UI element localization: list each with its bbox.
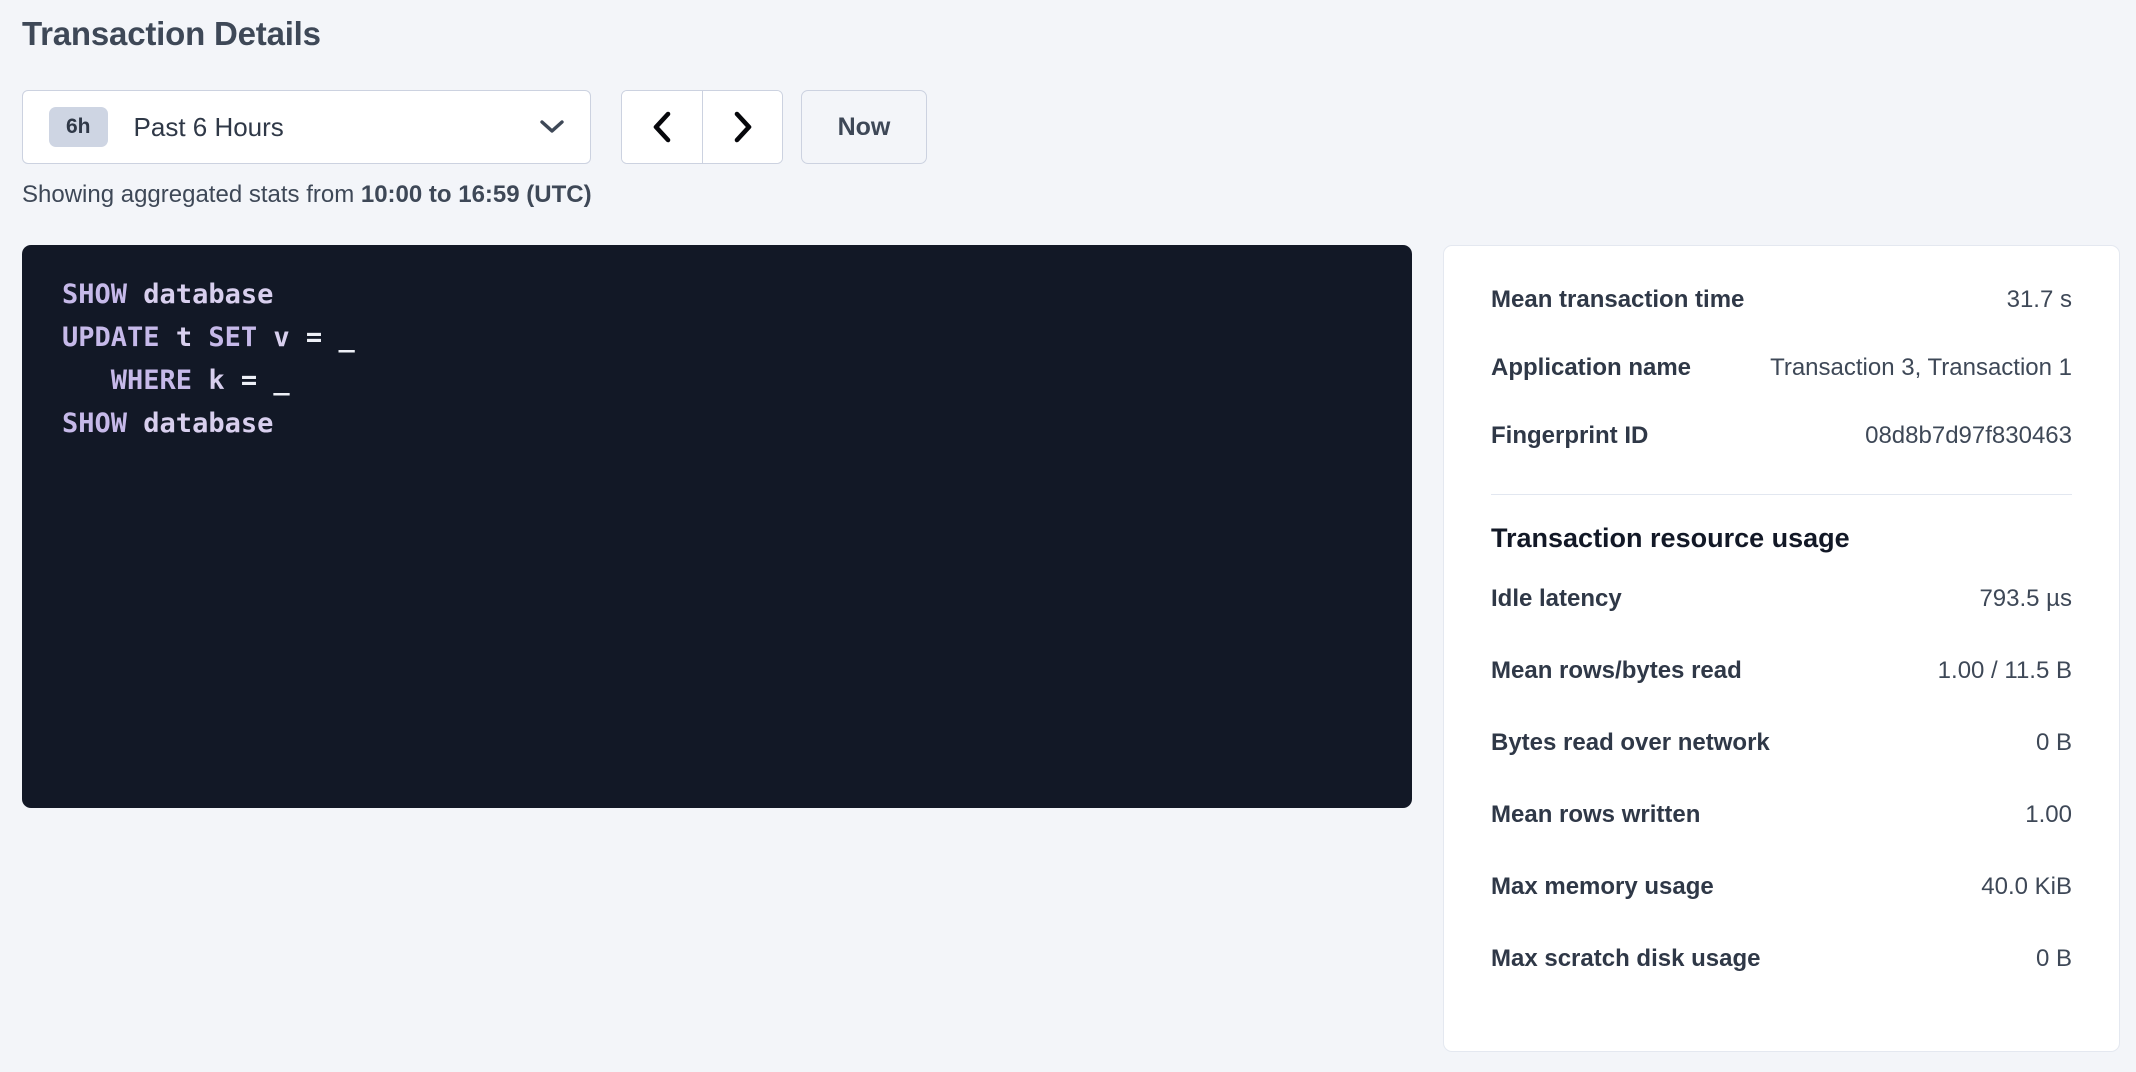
detail-row: Max memory usage40.0 KiB <box>1491 871 2072 921</box>
sql-token: k <box>208 365 224 396</box>
toolbar: 6h Past 6 Hours <box>22 90 927 164</box>
detail-row: Idle latency793.5 µs <box>1491 583 2072 633</box>
sql-token: database <box>143 279 273 310</box>
sql-statement-panel: SHOW database UPDATE t SET v = _ WHERE k… <box>22 245 1412 808</box>
sql-token: UPDATE <box>62 322 160 353</box>
detail-row-key: Mean rows written <box>1491 799 1700 831</box>
detail-row-key: Fingerprint ID <box>1491 420 1648 452</box>
sql-token <box>192 365 208 396</box>
detail-row-key: Idle latency <box>1491 583 1622 615</box>
detail-row: Mean rows/bytes read1.00 / 11.5 B <box>1491 655 2072 705</box>
detail-row-key: Max scratch disk usage <box>1491 943 1760 975</box>
sql-token: = <box>306 322 322 353</box>
detail-row-value: 1.00 / 11.5 B <box>1938 655 2072 687</box>
sql-token <box>257 322 273 353</box>
card-divider <box>1491 494 2072 495</box>
transaction-details-page: Transaction Details 6h Past 6 Hours <box>0 0 2136 1072</box>
detail-row: Mean rows written1.00 <box>1491 799 2072 849</box>
sql-token: WHERE <box>111 365 192 396</box>
sql-token <box>290 322 306 353</box>
sql-token <box>127 408 143 439</box>
time-range-select[interactable]: 6h Past 6 Hours <box>22 90 591 164</box>
page-title: Transaction Details <box>22 14 321 54</box>
detail-row: Fingerprint ID08d8b7d97f830463 <box>1491 420 2072 470</box>
detail-row-key: Bytes read over network <box>1491 727 1770 759</box>
sql-token: SHOW <box>62 408 127 439</box>
stats-note-prefix: Showing aggregated stats from <box>22 181 361 208</box>
sql-token: _ <box>338 322 354 353</box>
detail-row: Max scratch disk usage0 B <box>1491 943 2072 993</box>
sql-token: _ <box>273 365 289 396</box>
sql-token <box>192 322 208 353</box>
detail-row-value: 0 B <box>2036 727 2072 759</box>
sql-token: SET <box>208 322 257 353</box>
detail-row-key: Max memory usage <box>1491 871 1714 903</box>
detail-row-value: 40.0 KiB <box>1981 871 2072 903</box>
sql-token <box>127 279 143 310</box>
detail-row-value: 0 B <box>2036 943 2072 975</box>
detail-row-value: 1.00 <box>2025 799 2072 831</box>
sql-token <box>322 322 338 353</box>
sql-token <box>62 365 111 396</box>
next-period-button[interactable] <box>702 91 782 163</box>
detail-row-key: Mean rows/bytes read <box>1491 655 1742 687</box>
sql-token <box>257 365 273 396</box>
sql-token: v <box>273 322 289 353</box>
detail-row-value: 31.7 s <box>2007 284 2072 316</box>
sql-token: SHOW <box>62 279 127 310</box>
detail-row: Bytes read over network0 B <box>1491 727 2072 777</box>
time-nav-group <box>621 90 783 164</box>
sql-statement-text: SHOW database UPDATE t SET v = _ WHERE k… <box>22 273 1412 445</box>
resource-usage-title: Transaction resource usage <box>1491 521 2072 555</box>
detail-row-key: Application name <box>1491 352 1691 384</box>
sql-token <box>160 322 176 353</box>
now-button[interactable]: Now <box>801 90 927 164</box>
detail-row-value: Transaction 3, Transaction 1 <box>1770 352 2072 384</box>
stats-note-range: 10:00 to 16:59 (UTC) <box>361 181 592 208</box>
transaction-details-card: Mean transaction time31.7 sApplication n… <box>1443 245 2120 1052</box>
sql-token: database <box>143 408 273 439</box>
sql-token: t <box>176 322 192 353</box>
detail-row: Mean transaction time31.7 s <box>1491 284 2072 334</box>
detail-row-value: 08d8b7d97f830463 <box>1865 420 2072 452</box>
chevron-down-icon <box>540 120 564 134</box>
time-range-label: Past 6 Hours <box>134 112 284 142</box>
usage-rows: Idle latency793.5 µsMean rows/bytes read… <box>1491 583 2072 993</box>
sql-token <box>225 365 241 396</box>
aggregated-stats-note: Showing aggregated stats from 10:00 to 1… <box>22 180 592 210</box>
detail-row-value: 793.5 µs <box>1979 583 2072 615</box>
summary-rows: Mean transaction time31.7 sApplication n… <box>1491 284 2072 470</box>
chevron-right-icon <box>730 110 756 144</box>
chevron-left-icon <box>649 110 675 144</box>
sql-token: = <box>241 365 257 396</box>
previous-period-button[interactable] <box>622 91 702 163</box>
detail-row-key: Mean transaction time <box>1491 284 1744 316</box>
detail-row: Application nameTransaction 3, Transacti… <box>1491 352 2072 402</box>
time-range-badge: 6h <box>49 107 108 147</box>
